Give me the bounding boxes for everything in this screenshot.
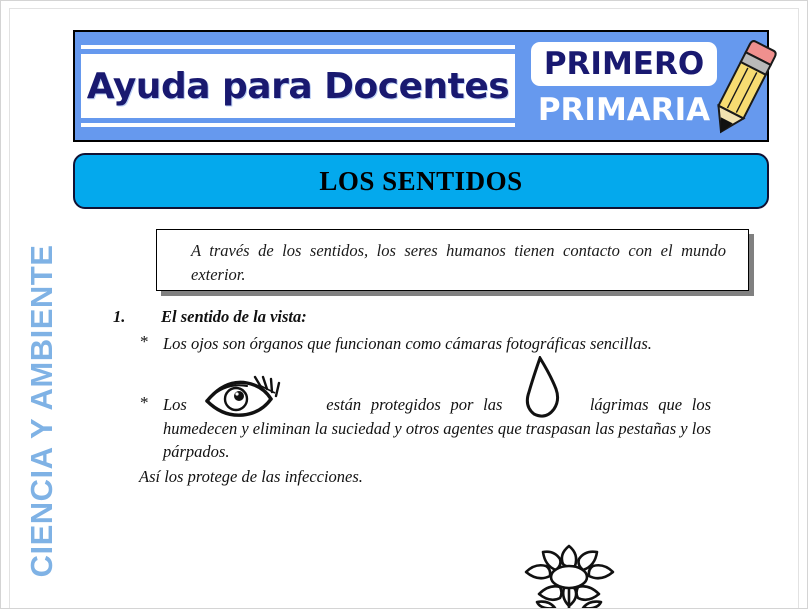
- bullet-marker: *: [140, 332, 149, 352]
- eye-illustration-slot: [197, 395, 317, 417]
- closing-line: Así los protege de las infecciones.: [1, 467, 808, 487]
- bullet-text-mixed: Los: [163, 393, 711, 463]
- section-heading-1: 1. El sentido de la vista:: [1, 307, 808, 329]
- bullet-text: Los ojos son órganos que funcionan como …: [163, 332, 711, 355]
- teardrop-icon: [520, 356, 564, 422]
- header-banner: Ayuda para Docentes PRIMERO PRIMARIA: [73, 30, 769, 142]
- grade-pill: PRIMERO: [531, 42, 717, 86]
- flower-icon: [509, 542, 629, 609]
- worksheet-page: CIENCIA Y AMBIENTE Ayuda para Docentes P…: [0, 0, 808, 609]
- lesson-title-box: LOS SENTIDOS: [73, 153, 769, 209]
- eye-icon: [203, 373, 283, 421]
- lesson-content: 1. El sentido de la vista: * Los ojos so…: [1, 307, 808, 487]
- banner-brand-panel: Ayuda para Docentes: [81, 38, 515, 134]
- section-title: El sentido de la vista:: [161, 307, 307, 327]
- grade-label: PRIMERO: [544, 46, 704, 82]
- bullet-marker: *: [140, 393, 149, 413]
- bullet-item-with-illustrations: * Los: [1, 393, 808, 463]
- bullet-text-part1: Los: [163, 395, 187, 414]
- teardrop-illustration-slot: [512, 395, 580, 417]
- bullet-item: * Los ojos son órganos que funcionan com…: [1, 332, 808, 355]
- banner-grade-panel: PRIMERO PRIMARIA: [523, 38, 765, 134]
- bullet-text-part2: están protegidos por las: [326, 395, 502, 414]
- intro-statement-box: A través de los sentidos, los seres huma…: [156, 229, 749, 291]
- level-label: PRIMARIA: [531, 88, 717, 132]
- pencil-icon: [701, 34, 781, 142]
- section-number: 1.: [113, 307, 125, 327]
- brand-title: Ayuda para Docentes: [81, 38, 515, 134]
- page-title: LOS SENTIDOS: [319, 166, 522, 197]
- intro-statement-text: A través de los sentidos, los seres huma…: [191, 239, 726, 287]
